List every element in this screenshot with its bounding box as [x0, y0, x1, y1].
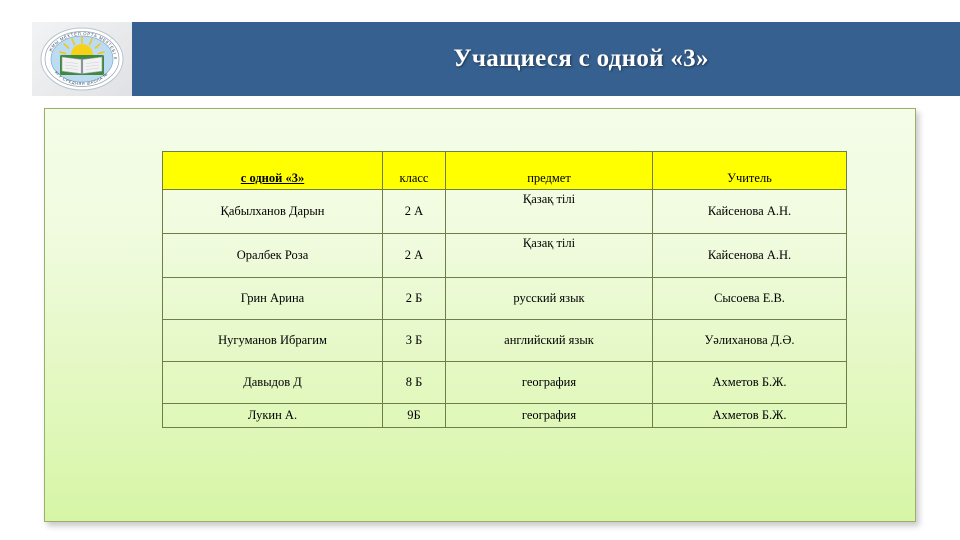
cell-subject: география [446, 362, 653, 404]
cell-grade: 9Б [383, 404, 446, 428]
column-header-class: класс [383, 152, 446, 190]
cell-grade: 8 Б [383, 362, 446, 404]
table-row: Лукин А. 9Б география Ахметов Б.Ж. [163, 404, 847, 428]
school-logo: ЖМЫ МЕКТЕП ОРТА МЕКТЕБІ КММ КГУ СРЕДНЯЯ … [32, 22, 132, 96]
table-row: Давыдов Д 8 Б география Ахметов Б.Ж. [163, 362, 847, 404]
table-row: Оралбек Роза 2 А Қазақ тілі Кайсенова А.… [163, 234, 847, 278]
cell-student-name: Оралбек Роза [163, 234, 383, 278]
cell-student-name: Давыдов Д [163, 362, 383, 404]
cell-teacher: Ахметов Б.Ж. [653, 404, 847, 428]
cell-grade: 2 Б [383, 278, 446, 320]
column-header-teacher: Учитель [653, 152, 847, 190]
cell-student-name: Грин Арина [163, 278, 383, 320]
cell-teacher: Кайсенова А.Н. [653, 190, 847, 234]
title-bar: Учащиеся с одной «3» [132, 22, 960, 96]
cell-teacher: Уәлиханова Д.Ә. [653, 320, 847, 362]
school-emblem-book-sun-icon: ЖМЫ МЕКТЕП ОРТА МЕКТЕБІ КММ КГУ СРЕДНЯЯ … [38, 25, 126, 93]
cell-teacher: Сысоева Е.В. [653, 278, 847, 320]
table-row: Грин Арина 2 Б русский язык Сысоева Е.В. [163, 278, 847, 320]
students-table: с одной «3» класс предмет Учитель Қабылх… [162, 151, 847, 428]
table-body: Қабылханов Дарын 2 А Қазақ тілі Кайсенов… [163, 190, 847, 428]
cell-grade: 2 А [383, 190, 446, 234]
column-header-name: с одной «3» [163, 152, 383, 190]
content-panel: с одной «3» класс предмет Учитель Қабылх… [44, 108, 916, 522]
column-header-subject: предмет [446, 152, 653, 190]
page-title: Учащиеся с одной «3» [132, 45, 960, 73]
cell-subject: русский язык [446, 278, 653, 320]
cell-student-name: Лукин А. [163, 404, 383, 428]
cell-subject: Қазақ тілі [446, 234, 653, 278]
cell-teacher: Кайсенова А.Н. [653, 234, 847, 278]
cell-student-name: Нугуманов Ибрагим [163, 320, 383, 362]
table-row: Қабылханов Дарын 2 А Қазақ тілі Кайсенов… [163, 190, 847, 234]
table-header: с одной «3» класс предмет Учитель [163, 152, 847, 190]
table-header-row: с одной «3» класс предмет Учитель [163, 152, 847, 190]
cell-subject: Қазақ тілі [446, 190, 653, 234]
cell-subject: география [446, 404, 653, 428]
cell-grade: 3 Б [383, 320, 446, 362]
cell-teacher: Ахметов Б.Ж. [653, 362, 847, 404]
cell-subject: английский язык [446, 320, 653, 362]
cell-student-name: Қабылханов Дарын [163, 190, 383, 234]
table-row: Нугуманов Ибрагим 3 Б английский язык Уә… [163, 320, 847, 362]
cell-grade: 2 А [383, 234, 446, 278]
